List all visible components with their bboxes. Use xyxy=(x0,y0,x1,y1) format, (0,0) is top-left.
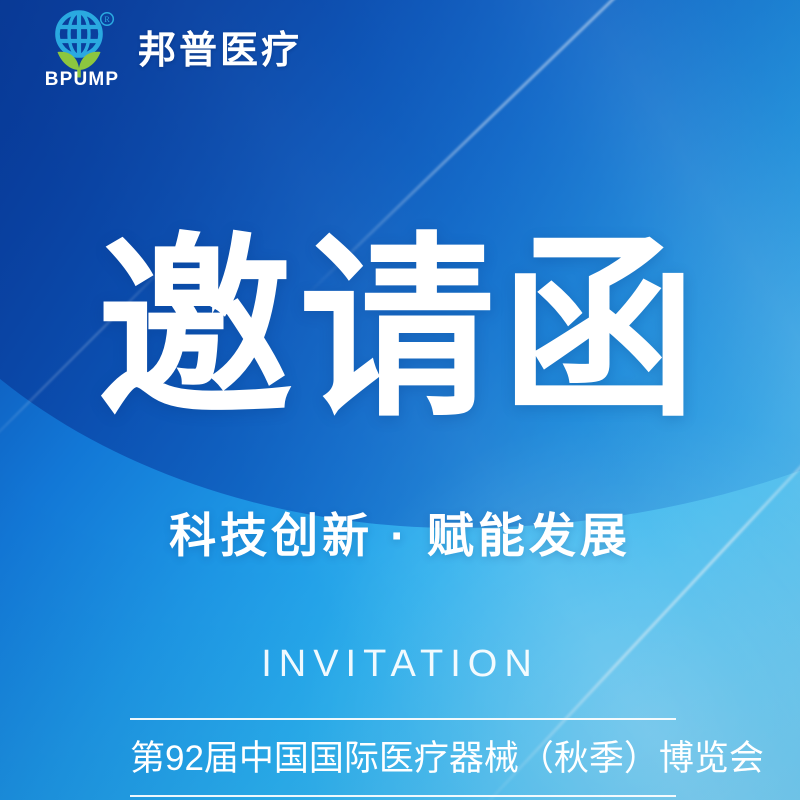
globe-grid-circle-icon xyxy=(58,13,101,56)
footer-event: 第92届中国国际医疗器械（秋季）博览会 xyxy=(130,718,676,797)
page-title: 邀请函 xyxy=(0,232,800,428)
footer-event-name: 第92届中国国际医疗器械（秋季）博览会 xyxy=(130,720,676,795)
brand-name: 邦普医疗 xyxy=(138,32,302,70)
bpump-logo: R BPUMP xyxy=(44,8,120,92)
logo-wordmark: BPUMP xyxy=(44,70,120,89)
page-subtitle: 科技创新 · 赋能发展 xyxy=(0,508,800,564)
brand-header: R BPUMP 邦普医疗 xyxy=(44,8,302,92)
footer-rule-bottom xyxy=(130,795,676,797)
invitation-poster: R BPUMP 邦普医疗 邀请函 科技创新 · 赋能发展 INVITATION … xyxy=(0,0,800,800)
registered-trademark-icon: R xyxy=(101,13,114,26)
page-title-english: INVITATION xyxy=(0,645,800,683)
svg-text:R: R xyxy=(104,15,110,24)
